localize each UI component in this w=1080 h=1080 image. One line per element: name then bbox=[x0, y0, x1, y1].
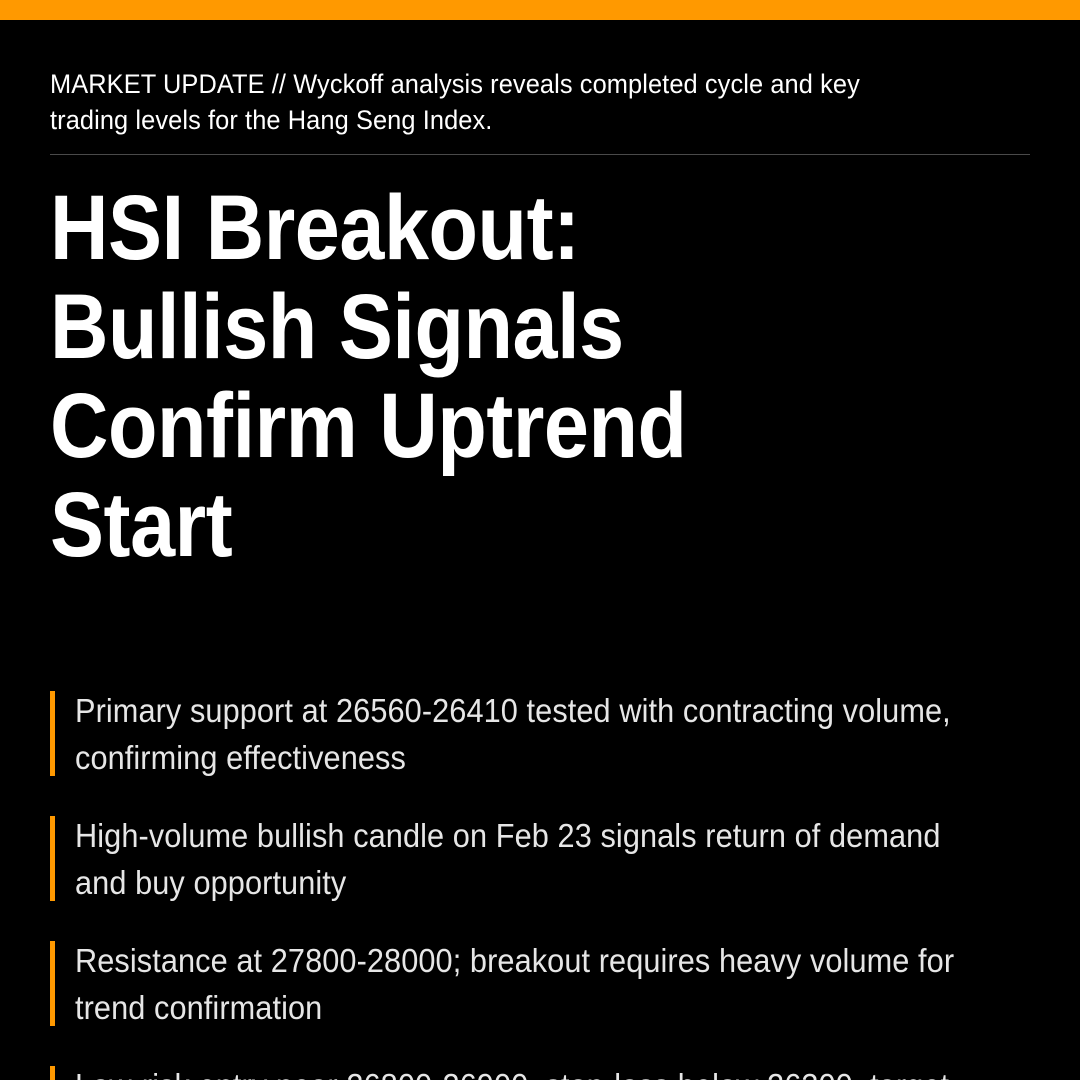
bullet-text-2: High-volume bullish candle on Feb 23 sig… bbox=[75, 812, 963, 906]
bullet-accent-bar-icon bbox=[50, 691, 55, 776]
content-column: MARKET UPDATE // Wyckoff analysis reveal… bbox=[0, 20, 1080, 1080]
headline: HSI Breakout: Bullish Signals Confirm Up… bbox=[50, 179, 860, 575]
kicker-block: MARKET UPDATE // Wyckoff analysis reveal… bbox=[50, 20, 1030, 155]
kicker-divider bbox=[50, 154, 1030, 155]
top-accent-bar bbox=[0, 0, 1080, 20]
news-card: MARKET UPDATE // Wyckoff analysis reveal… bbox=[0, 0, 1080, 1080]
bullet-accent-bar-icon bbox=[50, 1066, 55, 1080]
bullet-item-1: Primary support at 26560-26410 tested wi… bbox=[50, 687, 1030, 781]
bullet-accent-bar-icon bbox=[50, 941, 55, 1026]
bullet-item-4: Low-risk entry near 26800-26900, stop-lo… bbox=[50, 1062, 1030, 1080]
bullet-text-1: Primary support at 26560-26410 tested wi… bbox=[75, 687, 963, 781]
kicker-text: MARKET UPDATE // Wyckoff analysis reveal… bbox=[50, 66, 934, 138]
bullet-item-2: High-volume bullish candle on Feb 23 sig… bbox=[50, 812, 1030, 906]
bullet-accent-bar-icon bbox=[50, 816, 55, 901]
bullet-text-4: Low-risk entry near 26800-26900, stop-lo… bbox=[75, 1062, 963, 1080]
bullet-text-3: Resistance at 27800-28000; breakout requ… bbox=[75, 937, 963, 1031]
bullet-list: Primary support at 26560-26410 tested wi… bbox=[50, 687, 1030, 1080]
bullet-item-3: Resistance at 27800-28000; breakout requ… bbox=[50, 937, 1030, 1031]
